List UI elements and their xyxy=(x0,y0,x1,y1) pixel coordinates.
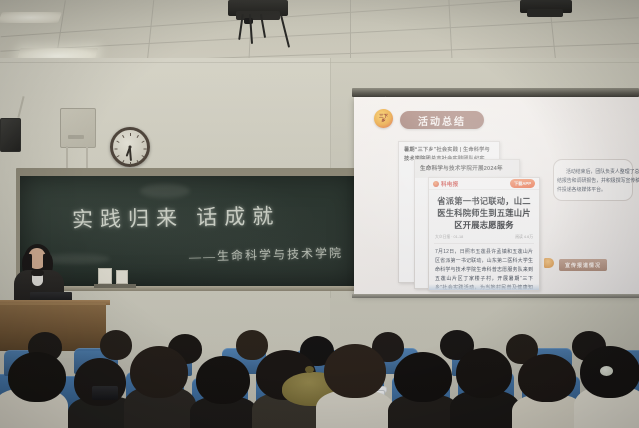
news-outlet-name: 科电报 xyxy=(441,180,458,188)
chalk-rail xyxy=(16,286,361,291)
projection-screen: 三下乡 活动总结 暑期“三下乡”社会实践 | 生命科学与技术学院团总支社会实践团… xyxy=(354,97,639,295)
summary-textbox-text: 活动结束后，团队负责人整理了总结报告和调研报告，并积极撰写宣传稿件投递各级媒体平… xyxy=(557,168,639,195)
attendee-head xyxy=(100,330,132,360)
sanxiaxiang-badge-icon: 三下乡 xyxy=(374,109,393,128)
wall-notice xyxy=(98,268,112,284)
blackboard-main-text: 实践归来 话成就 xyxy=(72,200,281,234)
ceiling-projector-right xyxy=(527,9,563,17)
news-headline: 省派第一书记联动，山二医生科院师生到五莲山片区开展志愿服务 xyxy=(429,190,539,234)
news-logo-icon xyxy=(433,181,439,187)
attendee-head xyxy=(8,352,66,402)
megaphone-icon xyxy=(544,258,554,268)
presentation-slide: 三下乡 活动总结 暑期“三下乡”社会实践 | 生命科学与技术学院团总支社会实践团… xyxy=(354,97,639,295)
news-meta-views: 阅读 4.6万 xyxy=(515,235,533,240)
projection-screen-housing xyxy=(352,88,639,97)
clock-minute-hand xyxy=(129,147,132,161)
news-meta-source: 大众日报 · 01-18 xyxy=(435,235,463,240)
news-card-fade xyxy=(429,284,539,290)
clock-center-pin xyxy=(129,146,132,149)
wall-electrical-panel xyxy=(60,108,96,148)
slide-title: 活动总结 xyxy=(400,111,484,129)
wall-shelf xyxy=(94,284,136,288)
attendee-head xyxy=(130,346,188,398)
lecture-hall-photo: 实践归来 话成就 ——生命科学与技术学院 三下乡 活动总结 暑期“三下乡”社会实… xyxy=(0,0,639,428)
article-card-middle-headline: 生命科学与技术学院开展2024年 xyxy=(415,160,519,178)
wall-speaker xyxy=(0,118,21,152)
attendee-head xyxy=(236,330,268,360)
wall-notice xyxy=(116,270,128,284)
wall-clock xyxy=(110,127,150,167)
attendee-head xyxy=(456,348,512,398)
attendee-head xyxy=(518,354,576,402)
blackboard: 实践归来 话成就 ——生命科学与技术学院 xyxy=(20,176,357,286)
smartphone[interactable] xyxy=(92,386,118,400)
attendee-head xyxy=(394,352,452,402)
badge-label: 三下乡 xyxy=(379,114,389,123)
section-tag: 宣传报道情况 xyxy=(559,259,607,271)
download-app-button[interactable]: 下载APP xyxy=(510,179,535,188)
beret-top-nub xyxy=(305,366,314,373)
hair-scrunchie xyxy=(600,366,613,376)
news-meta: 大众日报 · 01-18 阅读 4.6万 xyxy=(429,234,539,243)
news-card-front: 科电报 下载APP 省派第一书记联动，山二医生科院师生到五莲山片区开展志愿服务 … xyxy=(428,177,540,291)
wall-seam xyxy=(0,62,639,63)
clock-face xyxy=(110,127,150,167)
projection-screen-bottom-bar xyxy=(352,294,639,298)
attendee-head xyxy=(324,344,386,398)
news-card-toolbar: 科电报 下载APP xyxy=(429,178,539,190)
ceiling-light-panel-far xyxy=(0,12,62,23)
news-outlet-logo: 科电报 xyxy=(433,180,458,188)
presenter-collar xyxy=(31,270,44,276)
blackboard-sub-text: ——生命科学与技术学院 xyxy=(189,244,343,265)
attendee-head xyxy=(196,356,250,404)
